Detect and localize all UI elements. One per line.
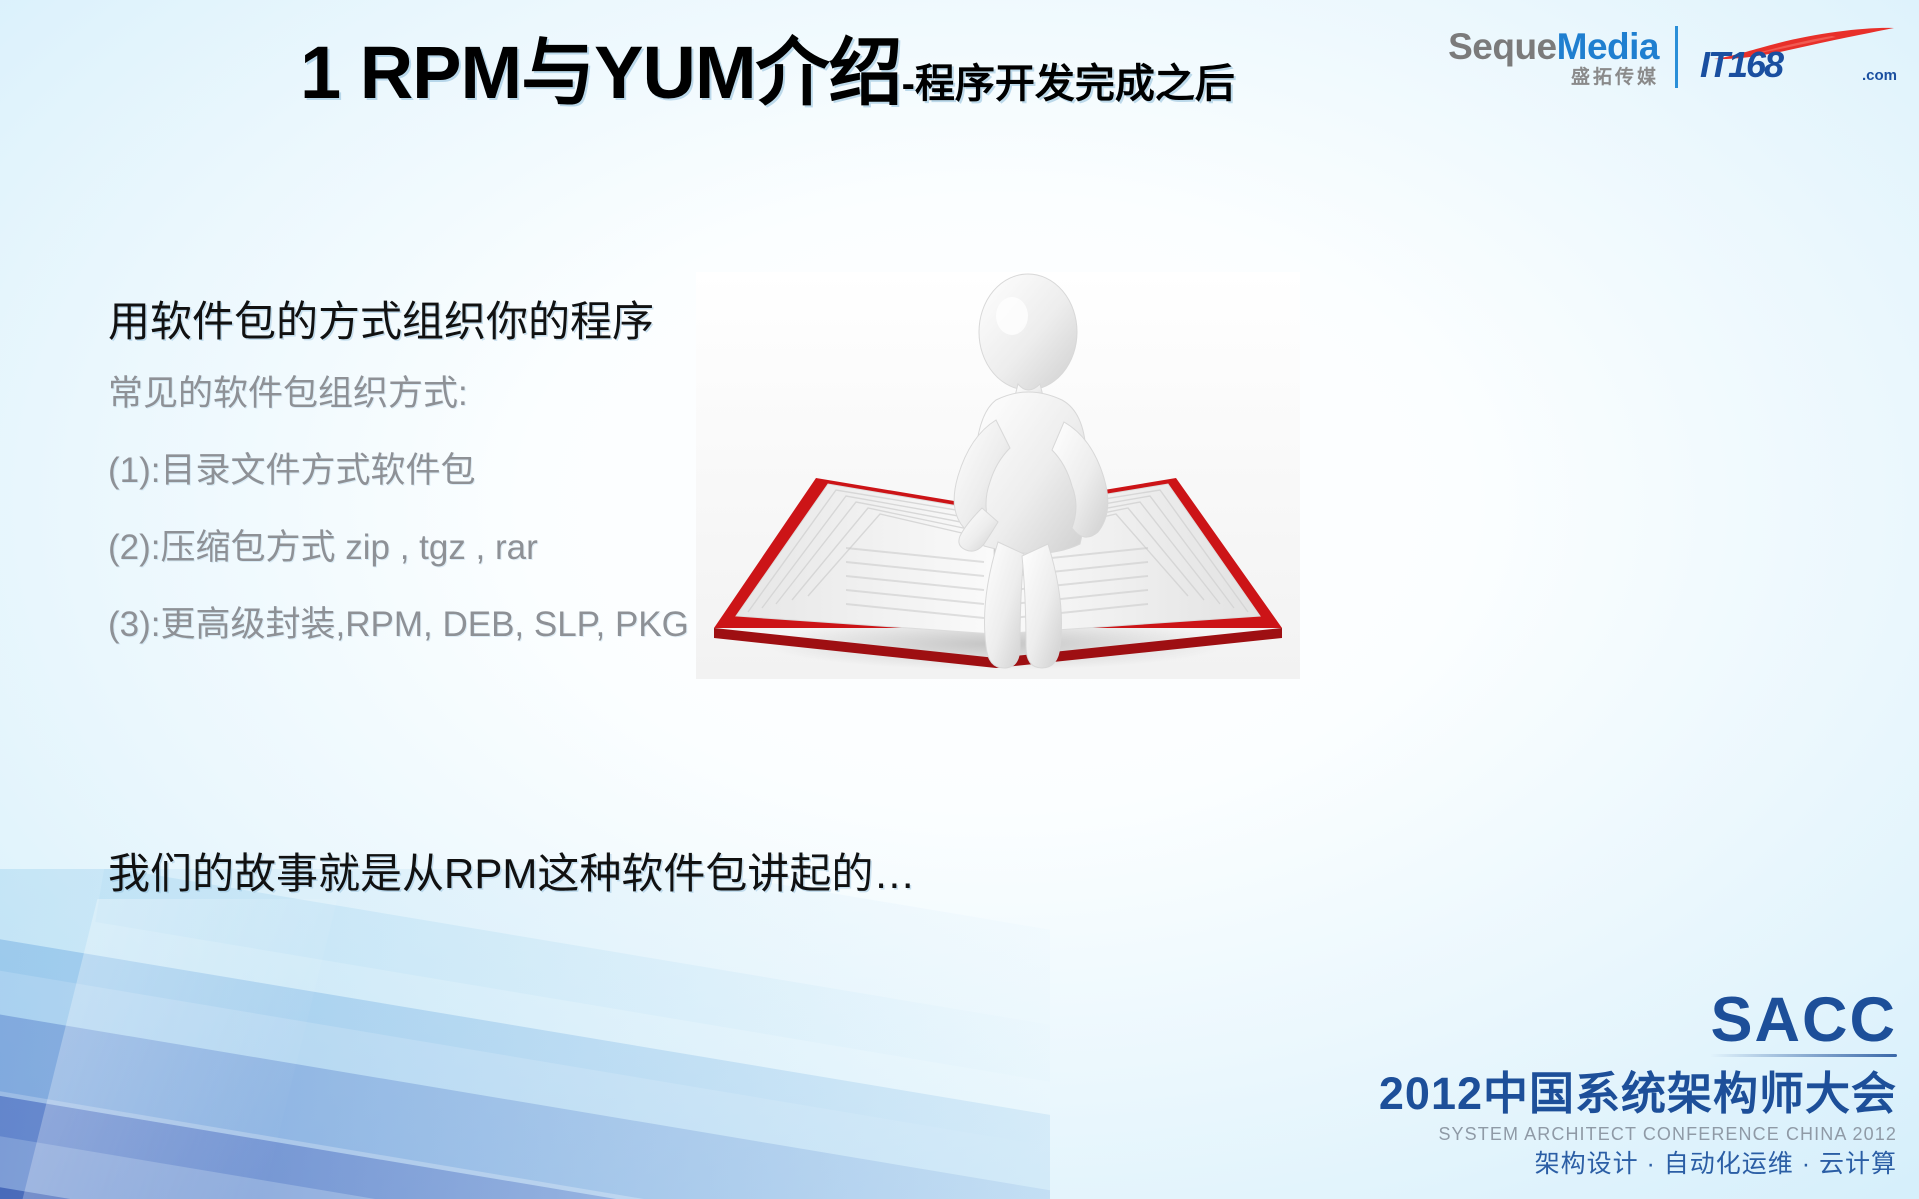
logo-divider [1675, 26, 1678, 88]
sequemedia-word-media: Media [1557, 26, 1659, 67]
conference-name-en: SYSTEM ARCHITECT CONFERENCE CHINA 2012 [1379, 1125, 1897, 1143]
slide-title-subtitle: -程序开发完成之后 [902, 64, 1235, 110]
sponsor-logos: SequeMedia 盛拓传媒 IT168 .com [1448, 24, 1899, 90]
sequemedia-wordmark: SequeMedia [1448, 28, 1659, 65]
sequemedia-logo: SequeMedia 盛拓传媒 [1448, 28, 1659, 87]
sacc-acronym: SACC [1710, 989, 1897, 1052]
slide-title-main: 1 RPM与YUM介绍 [300, 36, 902, 110]
slide-title: 1 RPM与YUM介绍 -程序开发完成之后 [300, 36, 1235, 110]
decorative-corner-graphic [0, 869, 1050, 1199]
sequemedia-word-seque: Seque [1448, 26, 1557, 67]
it168-logo: IT168 .com [1694, 24, 1899, 90]
it168-domain-suffix: .com [1862, 67, 1897, 84]
list-item: (2):压缩包方式 zip , tgz , rar [108, 519, 788, 570]
closing-statement: 我们的故事就是从RPM这种软件包讲起的… [108, 840, 915, 901]
bullet-list: 常见的软件包组织方式: (1):目录文件方式软件包 (2):压缩包方式 zip … [108, 365, 788, 673]
conference-name-cn: 2012中国系统架构师大会 [1379, 1071, 1897, 1116]
list-intro: 常见的软件包组织方式: [108, 365, 788, 416]
list-item: (1):目录文件方式软件包 [108, 442, 788, 493]
sequemedia-chinese-name: 盛拓传媒 [1571, 68, 1659, 87]
body-heading: 用软件包的方式组织你的程序 [108, 288, 654, 349]
it168-wordmark: IT168 [1700, 44, 1782, 86]
conference-tagline: 架构设计 · 自动化运维 · 云计算 [1379, 1152, 1897, 1177]
presentation-slide: 1 RPM与YUM介绍 -程序开发完成之后 SequeMedia 盛拓传媒 IT… [0, 0, 1919, 1199]
sacc-branding: SACC 2012中国系统架构师大会 SYSTEM ARCHITECT CONF… [1379, 989, 1897, 1177]
sacc-logo: SACC [1710, 989, 1897, 1057]
list-item: (3):更高级封装,RPM, DEB, SLP, PKG [108, 596, 788, 647]
